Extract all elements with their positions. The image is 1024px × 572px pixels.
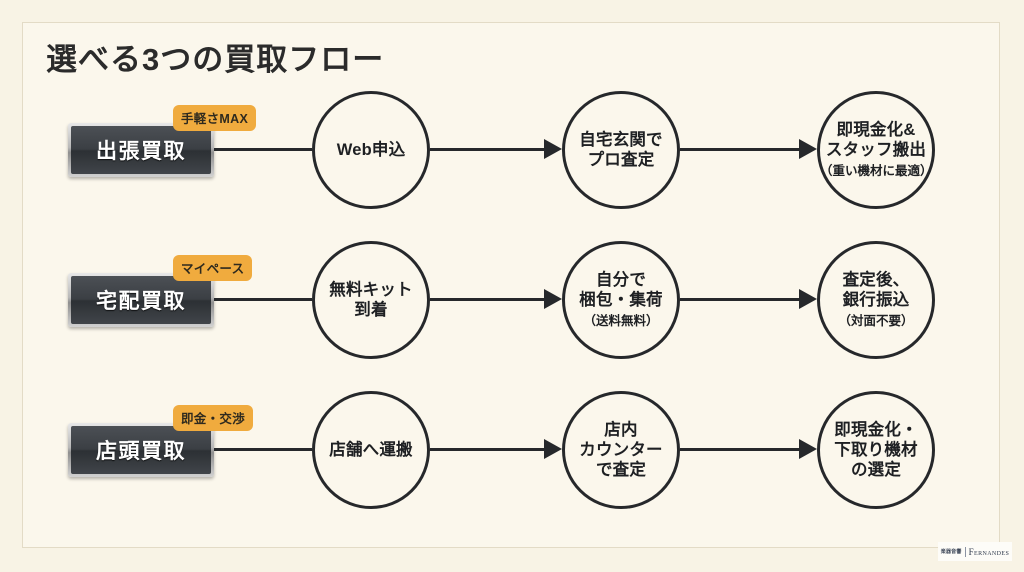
flow-row-takuhai: マイペース 宅配買取 無料キット 到着 自分で 梱包・集荷（送料無料） 査定後、… xyxy=(0,245,1024,395)
flow-step-text: 無料キット 到着 xyxy=(329,280,413,320)
arrow-step1-to-step2 xyxy=(430,298,562,301)
arrow-head-icon xyxy=(544,439,562,459)
method-plate-inner: 店頭買取 xyxy=(71,426,211,474)
method-plate-wrapper: マイペース 宅配買取 xyxy=(68,273,214,327)
brand-logo: 楽器音響 Fernandes xyxy=(938,542,1012,561)
arrow-step2-to-step3 xyxy=(680,298,817,301)
method-label: 宅配買取 xyxy=(96,285,186,315)
flow-step-note: （重い機材に最適） xyxy=(820,164,933,178)
flow-step-text: Web申込 xyxy=(337,140,406,160)
flow-step-note: （対面不要） xyxy=(838,314,913,328)
arrow-head-icon xyxy=(799,289,817,309)
arrow-shaft xyxy=(430,148,544,151)
arrow-step2-to-step3 xyxy=(680,448,817,451)
method-plate-inner: 出張買取 xyxy=(71,126,211,174)
flow-step-circle[interactable]: 無料キット 到着 xyxy=(312,241,430,359)
arrow-head-icon xyxy=(799,139,817,159)
flow-step-circle[interactable]: 即現金化& スタッフ搬出（重い機材に最適） xyxy=(817,91,935,209)
flow-step-text: 自分で 梱包・集荷（送料無料） xyxy=(579,270,663,330)
badge-tento: 即金・交渉 xyxy=(173,405,253,431)
arrow-head-icon xyxy=(544,289,562,309)
arrow-head-icon xyxy=(799,439,817,459)
arrow-shaft xyxy=(680,448,799,451)
flow-step-text: 店内 カウンター で査定 xyxy=(579,420,663,480)
method-plate-wrapper: 即金・交渉 店頭買取 xyxy=(68,423,214,477)
flow-step-main: 査定後、 銀行振込 xyxy=(843,271,910,309)
flow-step-text: 即現金化& スタッフ搬出（重い機材に最適） xyxy=(820,120,932,180)
flow-step-circle[interactable]: 店内 カウンター で査定 xyxy=(562,391,680,509)
flow-step-text: 即現金化・ 下取り機材 の選定 xyxy=(834,420,918,480)
badge-takuhai: マイペース xyxy=(173,255,252,281)
arrow-shaft xyxy=(680,298,799,301)
arrow-step1-to-step2 xyxy=(430,448,562,451)
flow-step-text: 自宅玄関で プロ査定 xyxy=(579,130,663,170)
method-label: 店頭買取 xyxy=(96,435,186,465)
badge-shutcho: 手軽さMAX xyxy=(173,105,256,131)
flow-step-note: （送料無料） xyxy=(583,314,658,328)
flow-step-circle[interactable]: Web申込 xyxy=(312,91,430,209)
method-plate-takuhai[interactable]: 宅配買取 xyxy=(68,273,214,327)
page-title: 選べる3つの買取フロー xyxy=(46,34,384,79)
flow-step-main: 自分で 梱包・集荷 xyxy=(579,271,663,309)
method-plate-shutcho[interactable]: 出張買取 xyxy=(68,123,214,177)
connector-line xyxy=(214,148,312,151)
flow-step-circle[interactable]: 店舗へ運搬 xyxy=(312,391,430,509)
arrow-step2-to-step3 xyxy=(680,148,817,151)
flow-step-circle[interactable]: 即現金化・ 下取り機材 の選定 xyxy=(817,391,935,509)
brand-logo-divider xyxy=(965,547,966,557)
arrow-head-icon xyxy=(544,139,562,159)
connector-line xyxy=(214,298,312,301)
flow-row-shutcho: 手軽さMAX 出張買取 Web申込 自宅玄関で プロ査定 即現金化& スタッフ搬… xyxy=(0,95,1024,245)
arrow-step1-to-step2 xyxy=(430,148,562,151)
slide-canvas: 選べる3つの買取フロー 手軽さMAX 出張買取 Web申込 自宅玄関で プロ査定 xyxy=(0,0,1024,572)
connector-line xyxy=(214,448,312,451)
flow-step-circle[interactable]: 自宅玄関で プロ査定 xyxy=(562,91,680,209)
method-plate-tento[interactable]: 店頭買取 xyxy=(68,423,214,477)
arrow-shaft xyxy=(430,298,544,301)
arrow-shaft xyxy=(680,148,799,151)
brand-logo-jp: 楽器音響 xyxy=(941,548,962,555)
arrow-shaft xyxy=(430,448,544,451)
method-plate-inner: 宅配買取 xyxy=(71,276,211,324)
flow-row-tento: 即金・交渉 店頭買取 店舗へ運搬 店内 カウンター で査定 即現金化・ 下取り機… xyxy=(0,395,1024,545)
flow-step-main: 即現金化& スタッフ搬出 xyxy=(826,121,926,159)
flow-step-text: 店舗へ運搬 xyxy=(329,440,413,460)
flow-step-circle[interactable]: 自分で 梱包・集荷（送料無料） xyxy=(562,241,680,359)
flow-step-text: 査定後、 銀行振込（対面不要） xyxy=(838,270,913,330)
method-label: 出張買取 xyxy=(96,135,186,165)
brand-logo-en: Fernandes xyxy=(969,547,1010,557)
flow-step-circle[interactable]: 査定後、 銀行振込（対面不要） xyxy=(817,241,935,359)
method-plate-wrapper: 手軽さMAX 出張買取 xyxy=(68,123,214,177)
